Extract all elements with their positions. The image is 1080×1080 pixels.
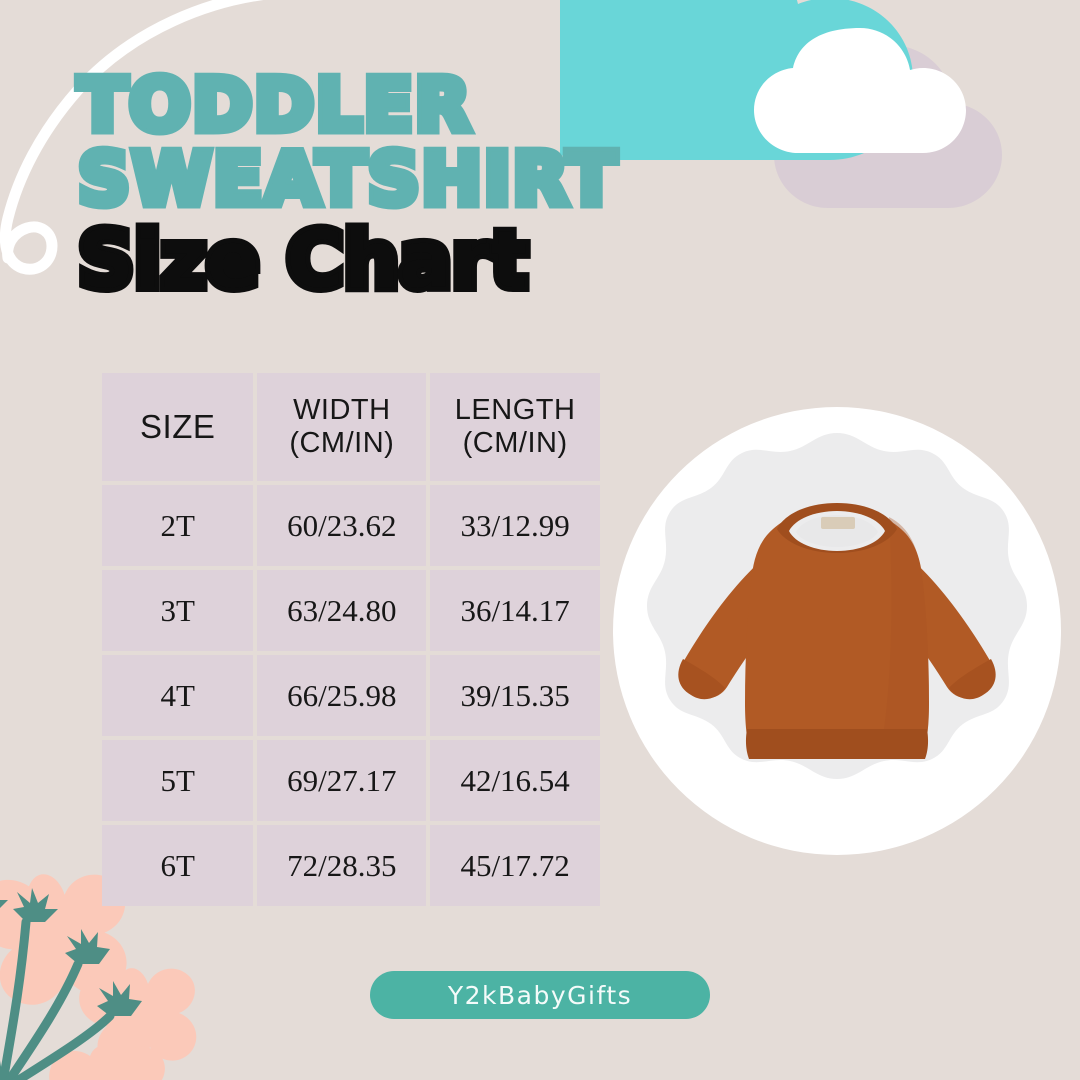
column-header-width-label: WIDTH	[293, 394, 391, 426]
column-header-width-unit: (CM/IN)	[289, 427, 394, 459]
table-row: 3T 63/24.80 36/14.17	[102, 570, 600, 651]
title-line-size-chart: Size Chart	[78, 226, 778, 298]
cloud-mauve-icon	[774, 45, 1002, 208]
cell-width: 63/24.80	[257, 570, 426, 651]
table-header-row: SIZE WIDTH (CM/IN) LENGTH (CM/IN)	[102, 373, 600, 481]
cell-length: 39/15.35	[430, 655, 600, 736]
cloud-white-icon	[754, 28, 966, 153]
column-header-length: LENGTH (CM/IN)	[430, 373, 600, 481]
title-line-sweatshirt: SWEATSHIRT	[78, 146, 778, 212]
size-chart-canvas: TODDLER SWEATSHIRT Size Chart SIZE WIDTH…	[0, 0, 1080, 1080]
column-header-size-label: SIZE	[140, 408, 215, 445]
cell-width: 72/28.35	[257, 825, 426, 906]
product-photo-medallion	[613, 407, 1061, 855]
neck-label	[821, 517, 855, 529]
page-title: TODDLER SWEATSHIRT Size Chart	[78, 72, 778, 298]
table-row: 2T 60/23.62 33/12.99	[102, 485, 600, 566]
cell-size: 3T	[102, 570, 253, 651]
cell-length: 42/16.54	[430, 740, 600, 821]
column-header-size: SIZE	[102, 373, 253, 481]
column-header-length-unit: (CM/IN)	[463, 427, 568, 459]
cell-size: 2T	[102, 485, 253, 566]
cell-width: 66/25.98	[257, 655, 426, 736]
column-header-width: WIDTH (CM/IN)	[257, 373, 426, 481]
flower-stems-icon	[0, 912, 110, 1080]
cell-size: 6T	[102, 825, 253, 906]
title-line-toddler: TODDLER	[78, 72, 778, 138]
shop-name-badge[interactable]: Y2kBabyGifts	[370, 971, 710, 1019]
cell-size: 4T	[102, 655, 253, 736]
cell-length: 36/14.17	[430, 570, 600, 651]
table-row: 5T 69/27.17 42/16.54	[102, 740, 600, 821]
cell-length: 45/17.72	[430, 825, 600, 906]
size-chart-table: SIZE WIDTH (CM/IN) LENGTH (CM/IN) 2T 60/…	[98, 369, 604, 910]
cell-length: 33/12.99	[430, 485, 600, 566]
table-row: 6T 72/28.35 45/17.72	[102, 825, 600, 906]
cell-width: 60/23.62	[257, 485, 426, 566]
cell-size: 5T	[102, 740, 253, 821]
column-header-length-label: LENGTH	[455, 394, 576, 426]
shop-name-label: Y2kBabyGifts	[448, 981, 632, 1010]
table-row: 4T 66/25.98 39/15.35	[102, 655, 600, 736]
cell-width: 69/27.17	[257, 740, 426, 821]
